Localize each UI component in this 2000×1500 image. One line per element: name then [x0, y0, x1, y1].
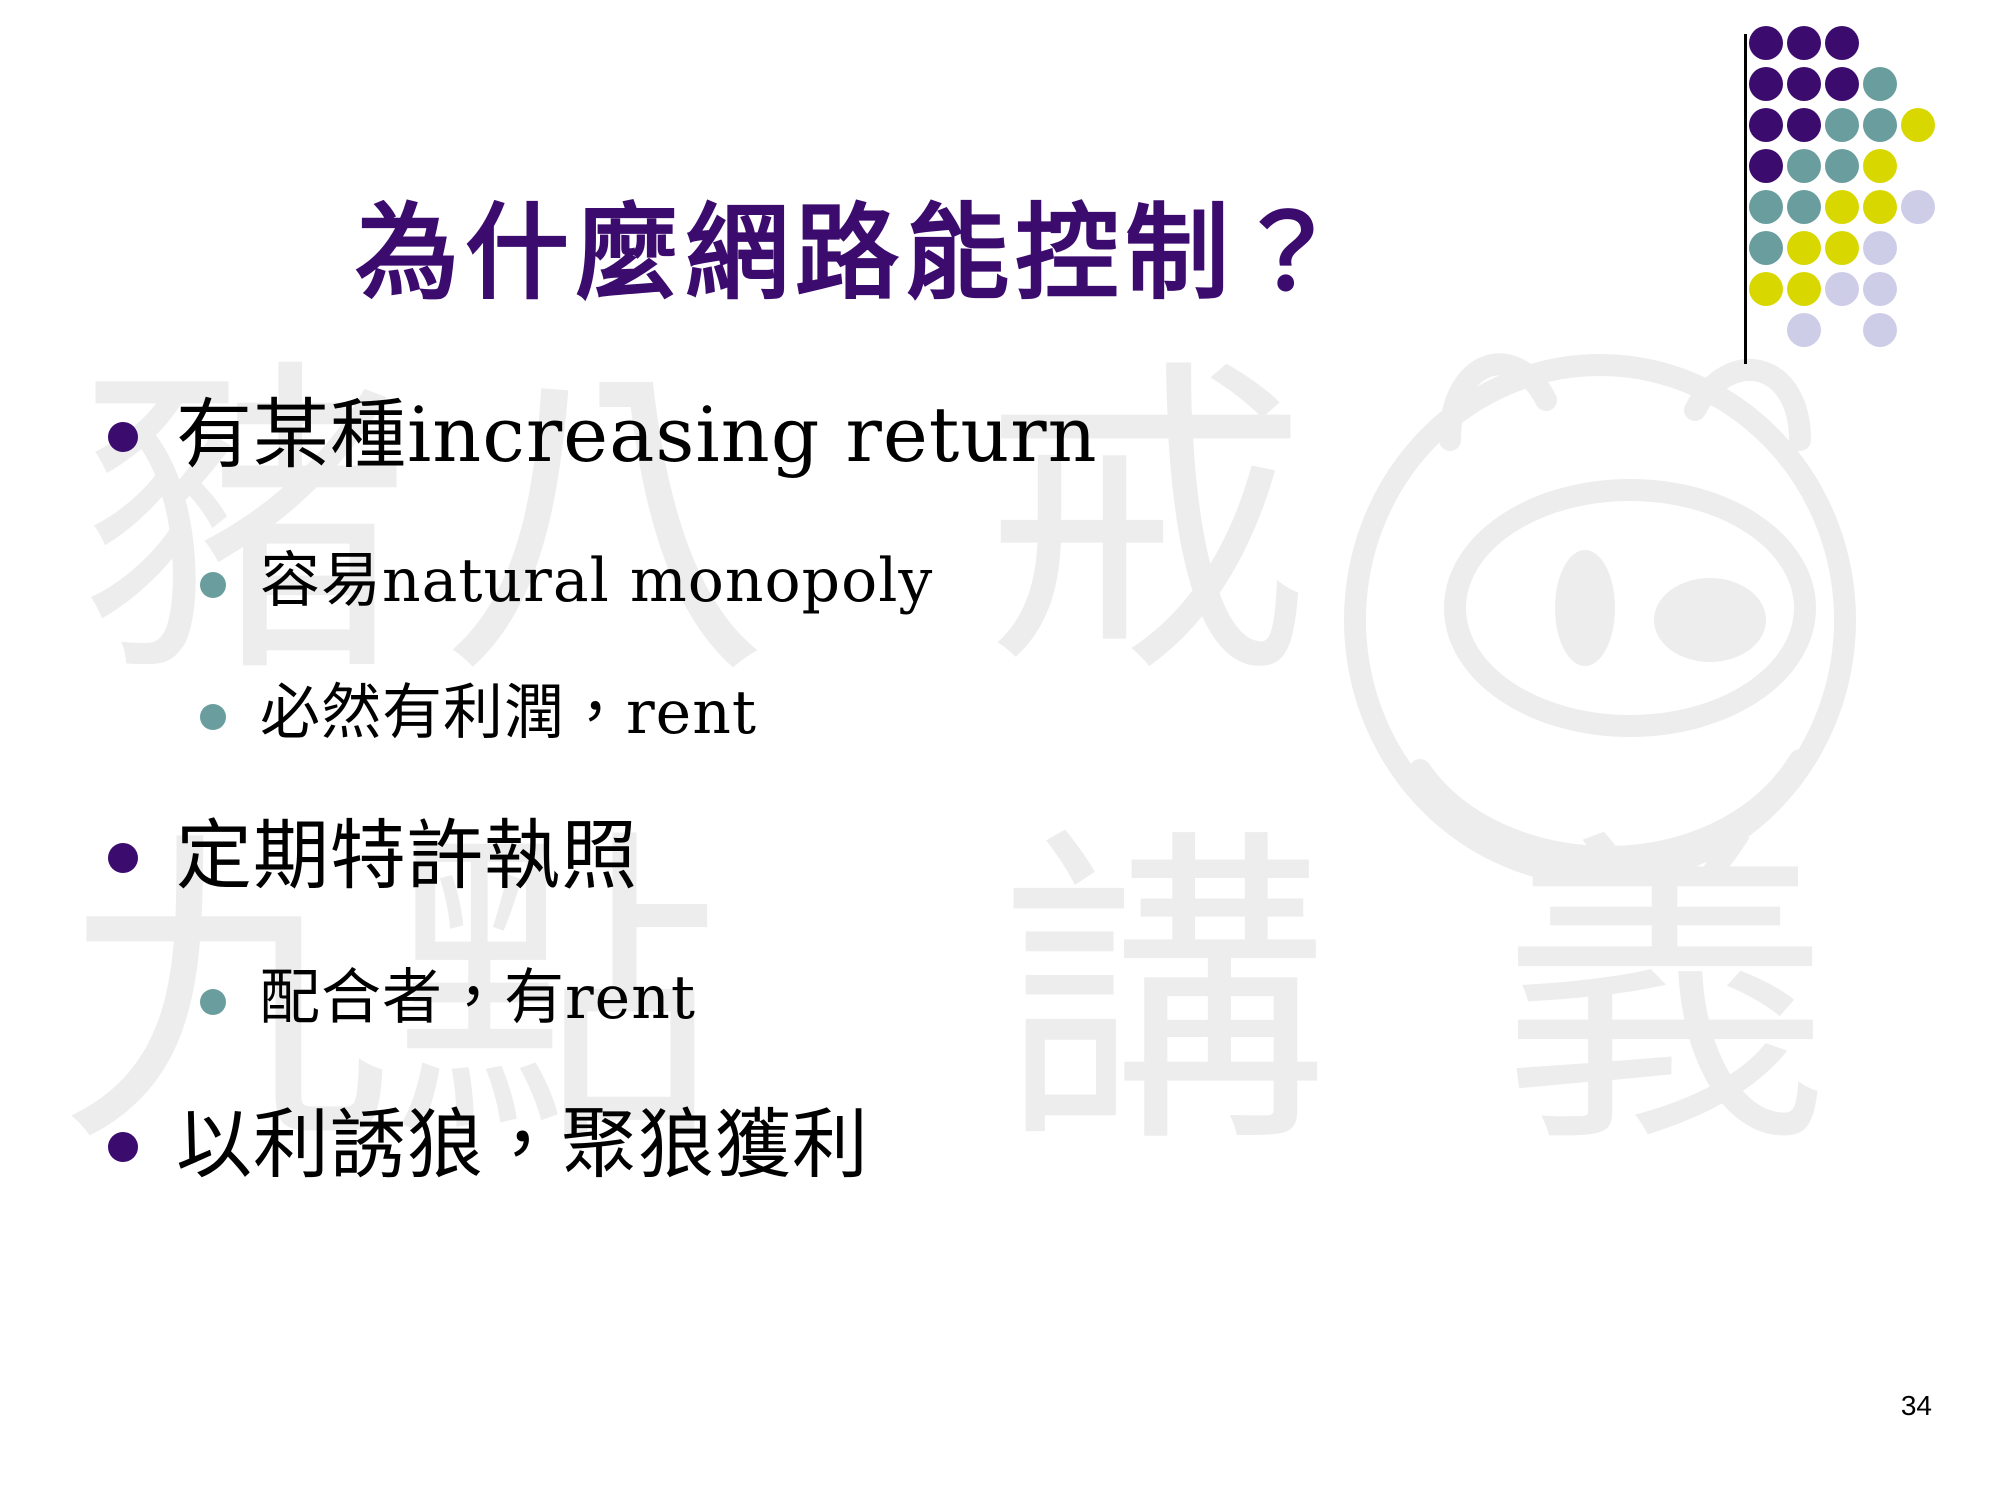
deco-dot-teal: [1787, 149, 1821, 183]
deco-dot-purple: [1787, 108, 1821, 142]
deco-dot-teal: [1749, 231, 1783, 265]
deco-dot-teal: [1749, 190, 1783, 224]
deco-dot-yellow: [1749, 272, 1783, 306]
bullet-text: 配合者，有rent: [260, 963, 696, 1034]
bullet-item-level1: 定期特許執照: [108, 811, 1668, 901]
bullet-item-level2: 容易natural monopoly: [200, 546, 1668, 617]
deco-dot-purple: [1749, 149, 1783, 183]
deco-dot-yellow: [1863, 190, 1897, 224]
slide-title: 為什麼網路能控制？: [0, 198, 1700, 307]
deco-dot-teal: [1787, 190, 1821, 224]
bullet-item-level1: 有某種increasing return: [108, 390, 1668, 480]
deco-dot-lavender: [1901, 190, 1935, 224]
deco-dot-lavender: [1863, 231, 1897, 265]
deco-dot-purple: [1787, 67, 1821, 101]
bullet-text: 必然有利潤，rent: [260, 678, 757, 749]
spacer: [108, 775, 1668, 811]
bullet-text: 容易natural monopoly: [260, 546, 933, 617]
slide-canvas: 豬 八 戒 九 點 講 義: [0, 0, 2000, 1500]
deco-dot-yellow: [1787, 231, 1821, 265]
page-number: 34: [1901, 1390, 1932, 1422]
deco-dot-purple: [1749, 26, 1783, 60]
bullet-text: 以利誘狼，聚狼獲利: [176, 1100, 869, 1190]
bullet-text: 定期特許執照: [176, 811, 638, 901]
spacer: [108, 1060, 1668, 1100]
bullet-marker-purple-icon: [108, 843, 138, 873]
bullet-item-level1: 以利誘狼，聚狼獲利: [108, 1100, 1668, 1190]
deco-dot-yellow: [1863, 149, 1897, 183]
deco-dot-purple: [1825, 26, 1859, 60]
spacer: [108, 927, 1668, 963]
deco-dot-lavender: [1787, 313, 1821, 347]
bullet-marker-teal-icon: [200, 704, 226, 730]
bullet-item-level2: 必然有利潤，rent: [200, 678, 1668, 749]
deco-dot-lavender: [1863, 272, 1897, 306]
deco-dot-purple: [1749, 67, 1783, 101]
deco-dot-teal: [1863, 67, 1897, 101]
deco-dot-teal: [1825, 108, 1859, 142]
deco-dot-lavender: [1825, 272, 1859, 306]
deco-dot-yellow: [1825, 231, 1859, 265]
bullet-list: 有某種increasing return 容易natural monopoly …: [108, 390, 1668, 1215]
bullet-item-level2: 配合者，有rent: [200, 963, 1668, 1034]
spacer: [108, 506, 1668, 546]
bullet-text: 有某種increasing return: [176, 390, 1098, 480]
bullet-marker-teal-icon: [200, 989, 226, 1015]
deco-dot-teal: [1863, 108, 1897, 142]
deco-dot-yellow: [1901, 108, 1935, 142]
dot-grid-decoration: [1735, 0, 2000, 370]
header-vertical-rule: [1744, 34, 1747, 364]
bullet-marker-purple-icon: [108, 422, 138, 452]
deco-dot-yellow: [1825, 190, 1859, 224]
bullet-marker-purple-icon: [108, 1132, 138, 1162]
deco-dot-purple: [1787, 26, 1821, 60]
deco-dot-purple: [1749, 108, 1783, 142]
deco-dot-teal: [1825, 149, 1859, 183]
deco-dot-lavender: [1863, 313, 1897, 347]
bullet-marker-teal-icon: [200, 572, 226, 598]
deco-dot-yellow: [1787, 272, 1821, 306]
deco-dot-purple: [1825, 67, 1859, 101]
spacer: [108, 642, 1668, 678]
